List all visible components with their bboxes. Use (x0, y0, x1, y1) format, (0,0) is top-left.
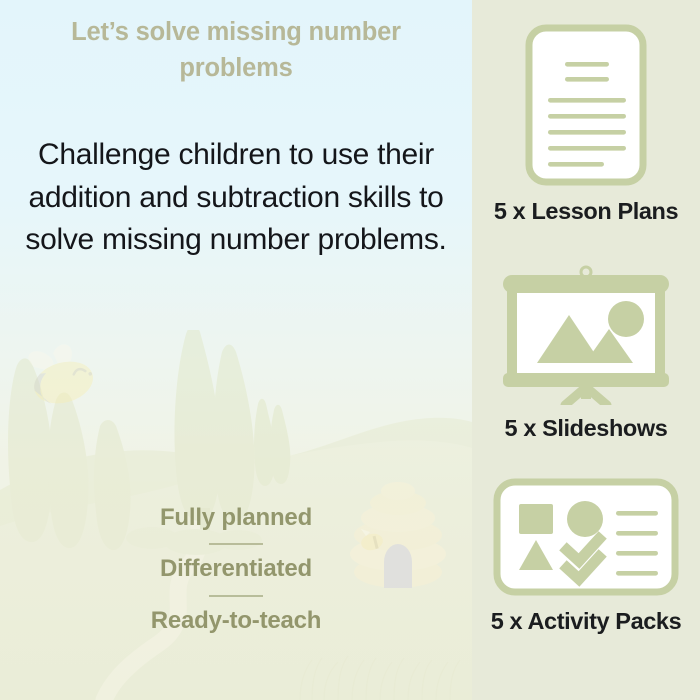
right-panel: 5 x Lesson Plans (472, 0, 700, 700)
left-panel: Let’s solve missing number problems Chal… (0, 0, 472, 700)
promo-graphic: Let’s solve missing number problems Chal… (0, 0, 700, 700)
feature-item-differentiated: Differentiated (36, 556, 436, 582)
left-content: Let’s solve missing number problems Chal… (0, 0, 472, 700)
page-title: Let’s solve missing number problems (28, 14, 444, 86)
body-copy: Challenge children to use their addition… (18, 134, 454, 262)
feature-item-ready-to-teach: Ready-to-teach (36, 608, 436, 634)
product-caption-slideshows: 5 x Slideshows (505, 415, 668, 442)
document-icon-wrap (525, 24, 647, 186)
projector-screen-icon-wrap (493, 265, 679, 405)
product-lesson-plans: 5 x Lesson Plans (472, 24, 700, 225)
feature-divider (209, 543, 263, 545)
feature-divider (209, 595, 263, 597)
product-activity-packs: 5 x Activity Packs (472, 478, 700, 635)
product-slideshows: 5 x Slideshows (472, 265, 700, 442)
feature-item-fully-planned: Fully planned (36, 505, 436, 531)
product-caption-activity-packs: 5 x Activity Packs (491, 608, 682, 635)
activity-card-icon-wrap (493, 478, 679, 596)
product-caption-lesson-plans: 5 x Lesson Plans (494, 198, 678, 225)
document-icon (525, 24, 647, 186)
activity-card-icon (493, 478, 679, 596)
projector-screen-icon (493, 265, 679, 405)
feature-list: Fully planned Differentiated Ready-to-te… (36, 505, 436, 634)
